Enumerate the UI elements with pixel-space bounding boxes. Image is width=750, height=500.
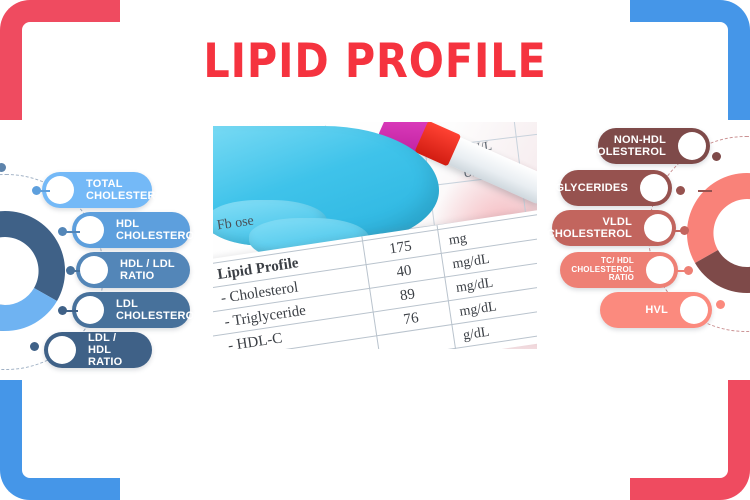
metric-label-line1: VLDL [602,216,632,228]
lab-photo: U/L U/L Fb ose Lipid Profile 175 mg - Ch… [213,122,537,349]
pill-knob-icon [48,336,76,364]
connector-line [36,190,50,192]
metric-pill-hvl[interactable]: HVL [600,292,712,328]
connector-line [698,190,712,192]
pill-knob-icon [80,256,108,284]
metric-label-line1: TC/ HDL [601,256,634,265]
pill-knob-icon [680,296,708,324]
metric-pill-tc-hdl-cholesterol-ratio[interactable]: TC/ HDLCHOLESTEROL RATIO [560,252,678,288]
metric-label-line1: HDL [116,218,139,230]
metric-label-line1: LDL / HDL [88,332,116,356]
report-unit-0: mg [448,231,468,249]
metric-pill-hdl-cholesterol[interactable]: HDLCHOLESTEROL [72,212,190,248]
page-title: LIPID PROFILE [45,38,705,85]
metric-pill-non-hdl-cholesterol[interactable]: NON-HDLCHOLESTEROL [598,128,710,164]
connector-line [62,310,78,312]
metric-label-line2: RATIO [88,356,122,368]
report-value-3: 76 [381,307,441,332]
pill-knob-icon [678,132,706,160]
pill-knob-icon [644,214,672,242]
report-value-1: 40 [374,259,434,284]
connector-line [70,270,80,272]
report-unit-4: g/dL [462,325,491,345]
metric-pill-hdl-ldl-ratio[interactable]: HDL / LDLRATIO [76,252,190,288]
metric-label-line1: LDL [116,298,138,310]
corner-frame-bottom-right [630,380,750,500]
metric-label-line2: CHOLESTEROL [581,146,666,158]
metric-label-line2: CHOLESTEROL [86,190,171,202]
metric-pill-total-cholesterol[interactable]: TOTALCHOLESTEROL [42,172,152,208]
metric-label-line2: RATIO [120,270,154,282]
metric-pill-triglycerides[interactable]: TRIGLYCERIDES [560,170,672,206]
metric-pill-vldl-cholesterol[interactable]: VLDLCHOLESTEROL [552,210,676,246]
pill-knob-icon [46,176,74,204]
corner-frame-bottom-left [0,380,120,500]
pill-knob-icon [76,216,104,244]
metric-pill-ldl-cholesterol[interactable]: LDLCHOLESTEROL [72,292,190,328]
connector-node [0,163,6,172]
report-label-3: - HDL-C [227,330,283,349]
connector-line [676,270,690,272]
connector-node [30,342,39,351]
pill-knob-icon [646,256,674,284]
report-value-0: 175 [371,236,431,261]
metric-label-line1: TRIGLYCERIDES [537,182,628,194]
connector-line [672,230,686,232]
metric-label-line1: NON-HDL [614,134,666,146]
pill-knob-icon [76,296,104,324]
connector-node [676,186,685,195]
connector-line [62,231,80,233]
connector-node [716,300,725,309]
metric-label-line2: CHOLESTEROL [116,310,201,322]
connector-node [712,152,721,161]
metric-label-line2: CHOLESTEROL [116,230,201,242]
report-value-2: 89 [378,283,438,308]
metric-label-line2: CHOLESTEROL RATIO [571,265,634,283]
metric-label-line1: TOTAL [86,178,123,190]
pill-knob-icon [640,174,668,202]
infographic-canvas: LIPID PROFILE U/L U/L Fb ose [0,0,750,500]
metric-label-line1: HDL / LDL [120,258,175,270]
metric-label-line2: CHOLESTEROL [547,228,632,240]
metric-label-line1: HVL [645,304,668,316]
metric-pill-ldl-hdl-ratio[interactable]: LDL / HDLRATIO [44,332,152,368]
